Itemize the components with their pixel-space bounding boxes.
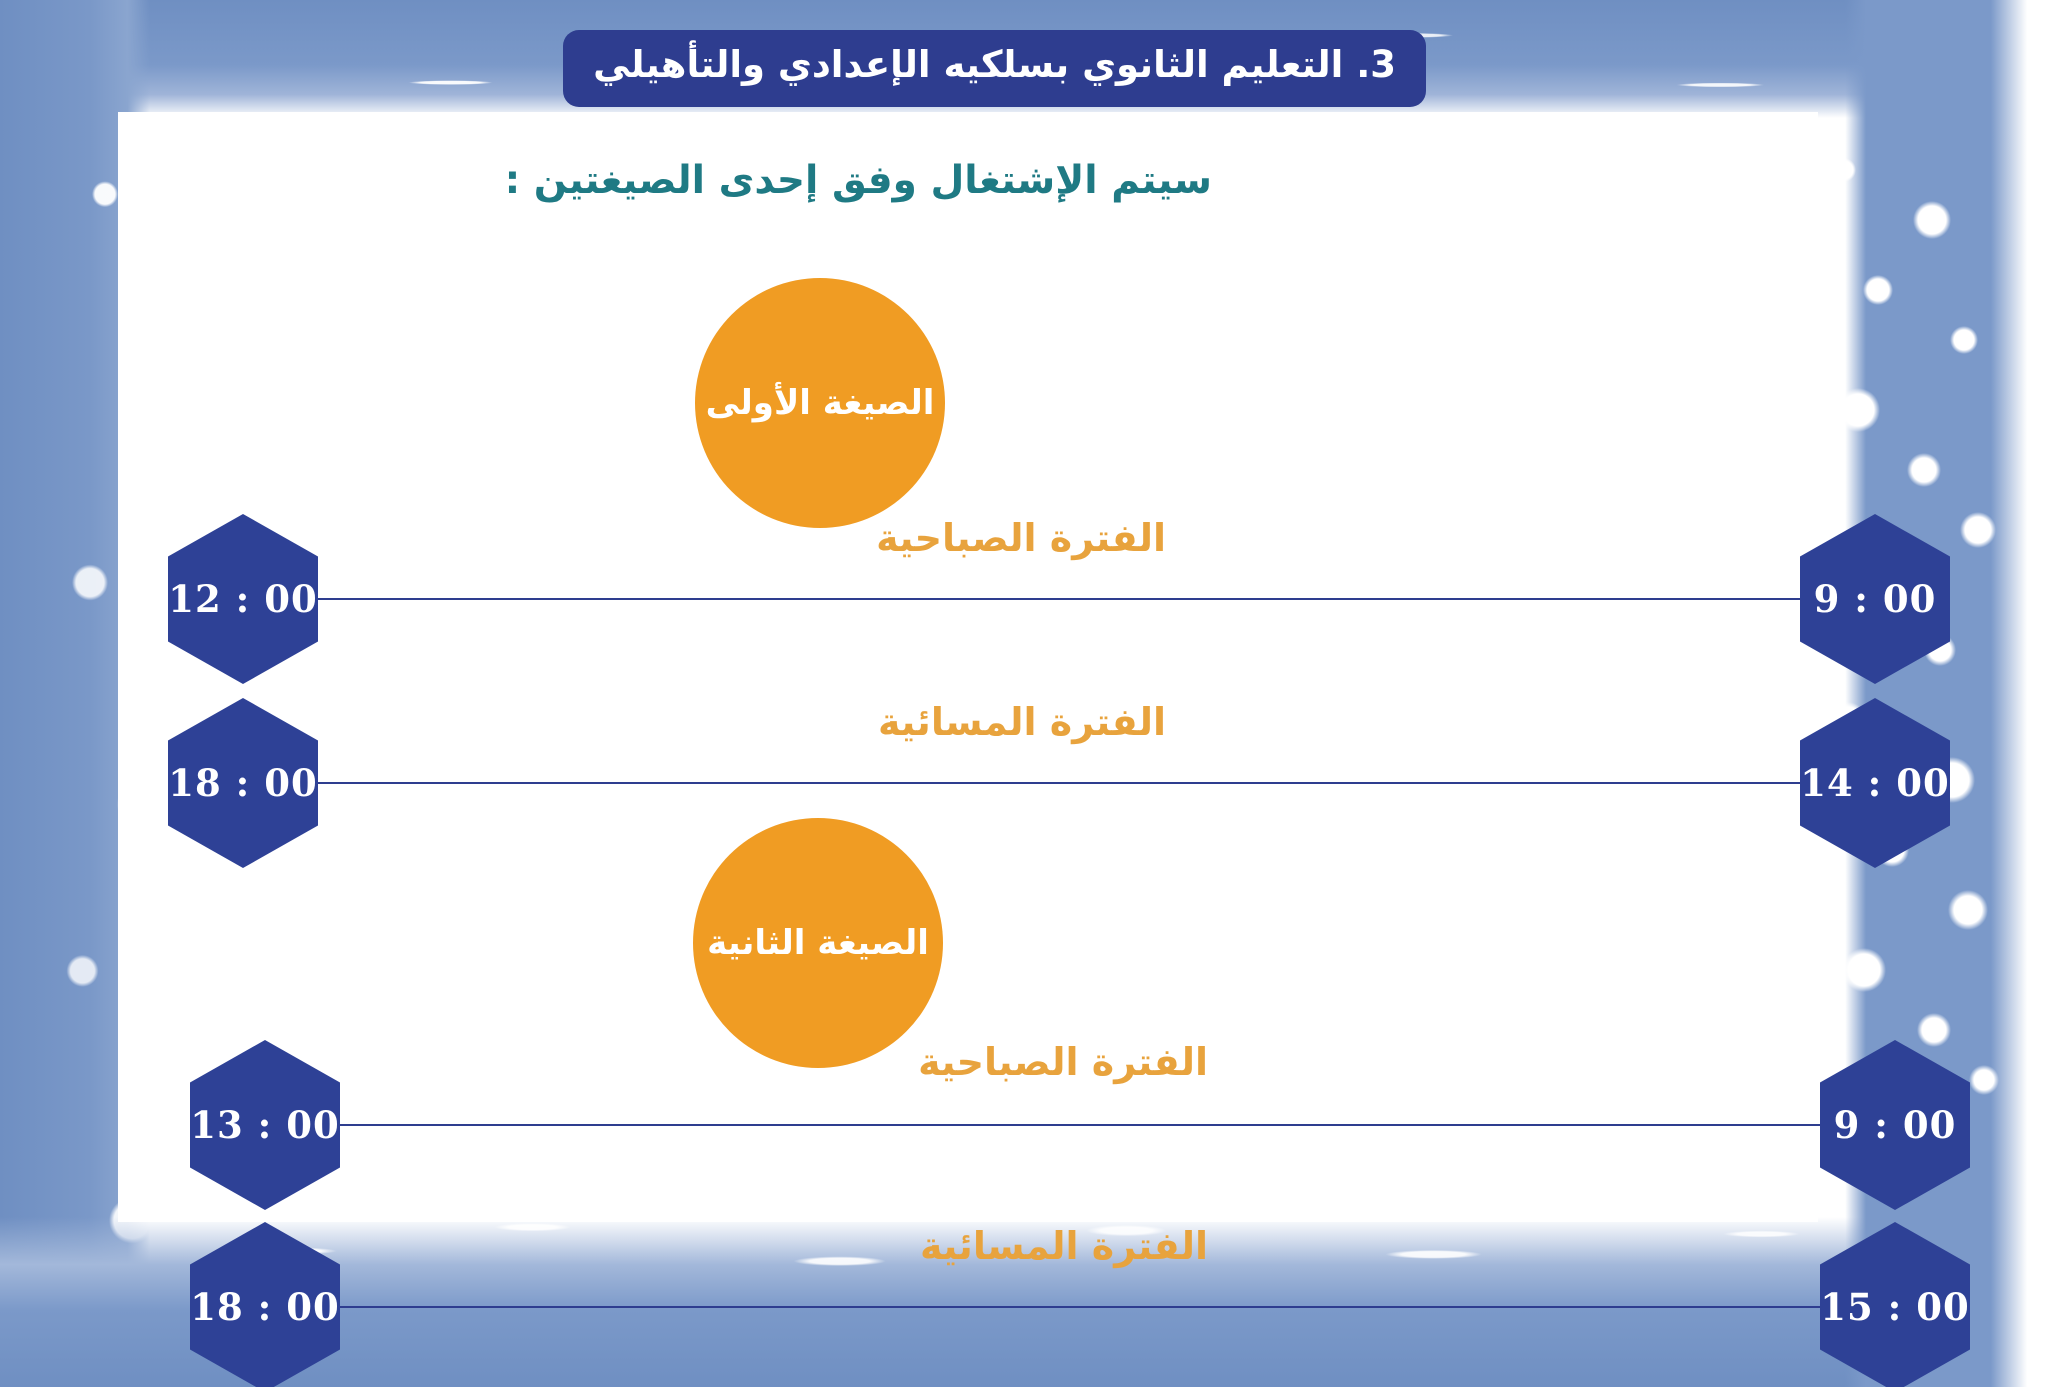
time-hex-f1-evening-start: 14 : 00 xyxy=(1800,698,1950,868)
connector-line-f1-evening xyxy=(318,782,1808,784)
period-label-f1-morning: الفترة الصباحية xyxy=(876,516,1166,560)
page-title: 3. التعليم الثانوي بسلكيه الإعدادي والتأ… xyxy=(563,30,1426,107)
format-badge-2: الصيغة الثانية xyxy=(693,818,943,1068)
connector-line-f1-morning xyxy=(318,598,1808,600)
connector-line-f2-morning xyxy=(340,1124,1830,1126)
time-value: 12 : 00 xyxy=(168,577,317,621)
time-value: 18 : 00 xyxy=(168,761,317,805)
brush-stroke-left xyxy=(0,0,150,1387)
time-hex-f2-morning-end: 13 : 00 xyxy=(190,1040,340,1210)
time-value: 13 : 00 xyxy=(190,1103,339,1147)
format-badge-1: الصيغة الأولى xyxy=(695,278,945,528)
period-label-f1-evening: الفترة المسائية xyxy=(878,700,1166,744)
time-value: 9 : 00 xyxy=(1814,577,1937,621)
time-hex-f1-morning-end: 12 : 00 xyxy=(168,514,318,684)
period-label-f2-morning: الفترة الصباحية xyxy=(918,1040,1208,1084)
time-value: 14 : 00 xyxy=(1800,761,1949,805)
period-label-f2-evening: الفترة المسائية xyxy=(920,1224,1208,1268)
time-hex-f2-evening-start: 15 : 00 xyxy=(1820,1222,1970,1387)
subtitle-text: سيتم الإشتغال وفق إحدى الصيغتين : xyxy=(505,158,1212,203)
time-hex-f2-morning-start: 9 : 00 xyxy=(1820,1040,1970,1210)
time-value: 18 : 00 xyxy=(190,1285,339,1329)
time-hex-f2-evening-end: 18 : 00 xyxy=(190,1222,340,1387)
slide-canvas: 3. التعليم الثانوي بسلكيه الإعدادي والتأ… xyxy=(0,0,2048,1387)
time-hex-f1-morning-start: 9 : 00 xyxy=(1800,514,1950,684)
time-hex-f1-evening-end: 18 : 00 xyxy=(168,698,318,868)
time-value: 9 : 00 xyxy=(1834,1103,1957,1147)
time-value: 15 : 00 xyxy=(1820,1285,1969,1329)
connector-line-f2-evening xyxy=(340,1306,1830,1308)
